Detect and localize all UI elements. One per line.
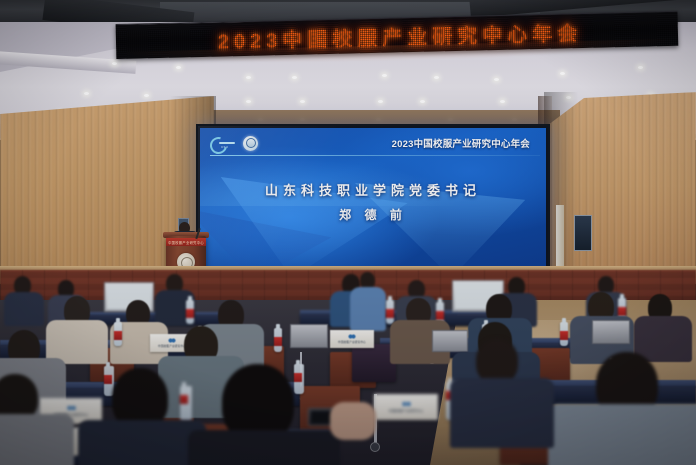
water-bottle bbox=[294, 364, 304, 394]
wall-control-panel-right bbox=[574, 215, 592, 251]
name-card-logo-icon bbox=[168, 338, 176, 343]
downlight bbox=[420, 100, 425, 103]
water-bottle bbox=[186, 300, 194, 324]
downlight bbox=[144, 94, 149, 97]
downlight bbox=[176, 66, 181, 69]
downlight bbox=[246, 100, 251, 103]
name-card-text: 中国校服产业研究中心 bbox=[338, 340, 366, 344]
downlight bbox=[382, 74, 387, 77]
downlight bbox=[84, 92, 89, 95]
slide-header: CSU 2023中国校服产业研究中心年会 bbox=[200, 132, 546, 154]
projection-screen-surface: CSU 2023中国校服产业研究中心年会 山东科技职业学院党委书记 郑 德 前 bbox=[200, 128, 546, 272]
downlight bbox=[246, 76, 251, 79]
laptop bbox=[432, 330, 468, 352]
name-card: 中国校服产业研究中心 bbox=[330, 330, 374, 348]
downlight bbox=[292, 76, 297, 79]
downlight bbox=[638, 66, 643, 69]
name-card-logo-icon bbox=[66, 405, 77, 411]
slide-header-rule bbox=[210, 155, 540, 156]
laptop bbox=[592, 320, 630, 344]
swoosh-logo-icon: CSU bbox=[210, 137, 236, 150]
downlight bbox=[494, 78, 499, 81]
downlight bbox=[434, 76, 439, 79]
slide-speaker-name: 郑 德 前 bbox=[200, 206, 546, 223]
desk-wheel bbox=[370, 442, 380, 452]
slide-header-title: 2023中国校服产业研究中心年会 bbox=[392, 136, 530, 150]
laptop bbox=[290, 324, 328, 348]
water-bottle bbox=[274, 328, 282, 352]
downlight bbox=[560, 72, 565, 75]
water-bottle bbox=[114, 322, 122, 346]
downlight bbox=[112, 62, 117, 65]
downlight bbox=[500, 100, 505, 103]
name-card-text: 中国校服产业研究中心 bbox=[389, 408, 424, 413]
podium-banner: 中国校服产业研究中心 bbox=[166, 238, 206, 246]
water-bottle bbox=[560, 322, 568, 346]
name-card-text: 中国校服产业研究中心 bbox=[158, 344, 186, 348]
conference-hall-photo: 2023中国校服产业研究中心年会 CSU 2023中国校服产业研究中心年会 bbox=[0, 0, 696, 465]
name-card-logo-icon bbox=[348, 334, 356, 339]
projection-screen: CSU 2023中国校服产业研究中心年会 山东科技职业学院党委书记 郑 德 前 bbox=[196, 124, 550, 276]
name-card: 中国校服产业研究中心 bbox=[374, 394, 438, 420]
downlight bbox=[378, 100, 383, 103]
led-banner-text: 2023中国校服产业研究中心年会 bbox=[211, 17, 582, 55]
slide-logo-group: CSU bbox=[210, 136, 258, 151]
water-bottle bbox=[180, 386, 192, 422]
podium-banner-text: 中国校服产业研究中心 bbox=[168, 240, 204, 245]
water-bottle bbox=[386, 300, 394, 324]
downlight bbox=[300, 100, 305, 103]
circular-badge-logo-icon bbox=[243, 136, 258, 151]
name-card-logo-icon bbox=[401, 401, 412, 407]
slide-speaker-title: 山东科技职业学院党委书记 bbox=[200, 180, 546, 199]
